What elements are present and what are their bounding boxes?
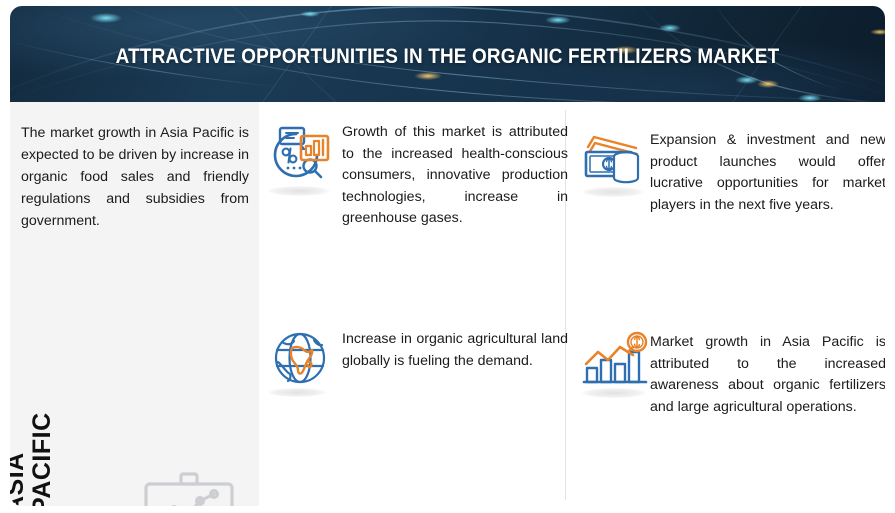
- insight-card-growth: Growth of this market is attributed to t…: [266, 120, 566, 280]
- insight-text-expansion: Expansion & investment and new product l…: [650, 130, 885, 216]
- page-title: ATTRACTIVE OPPORTUNITIES IN THE ORGANIC …: [63, 44, 833, 69]
- globe-africa-icon: [270, 328, 330, 388]
- presentation-chart-magnifier-icon: [132, 470, 254, 506]
- left-summary-panel: The market growth in Asia Pacific is exp…: [10, 102, 259, 506]
- money-cash-coins-icon: [580, 124, 648, 192]
- region-label-line1: ASIA: [10, 394, 29, 506]
- insight-text-awareness: Market growth in Asia Pacific is attribu…: [650, 332, 885, 418]
- insight-card-land: Increase in organic agricultural land gl…: [266, 326, 566, 426]
- insight-card-expansion: Expansion & investment and new product l…: [576, 124, 876, 274]
- icon-shadow: [582, 187, 644, 197]
- analytics-percentage-search-icon: [266, 120, 334, 188]
- insight-card-awareness: Market growth in Asia Pacific is attribu…: [576, 328, 876, 478]
- region-label-line2: PACIFIC: [29, 394, 56, 506]
- region-label: ASIA PACIFIC: [10, 394, 56, 506]
- insight-text-growth: Growth of this market is attributed to t…: [342, 122, 568, 230]
- icon-shadow: [268, 388, 326, 397]
- left-panel-paragraph: The market growth in Asia Pacific is exp…: [21, 122, 249, 232]
- infographic-root: ATTRACTIVE OPPORTUNITIES IN THE ORGANIC …: [0, 0, 895, 513]
- insight-text-land: Increase in organic agricultural land gl…: [342, 329, 568, 372]
- icon-shadow: [582, 388, 646, 398]
- bar-chart-growth-dollar-icon: [580, 330, 652, 392]
- content-area: The market growth in Asia Pacific is exp…: [10, 102, 885, 506]
- icon-shadow: [268, 186, 330, 196]
- header-banner: ATTRACTIVE OPPORTUNITIES IN THE ORGANIC …: [10, 6, 885, 102]
